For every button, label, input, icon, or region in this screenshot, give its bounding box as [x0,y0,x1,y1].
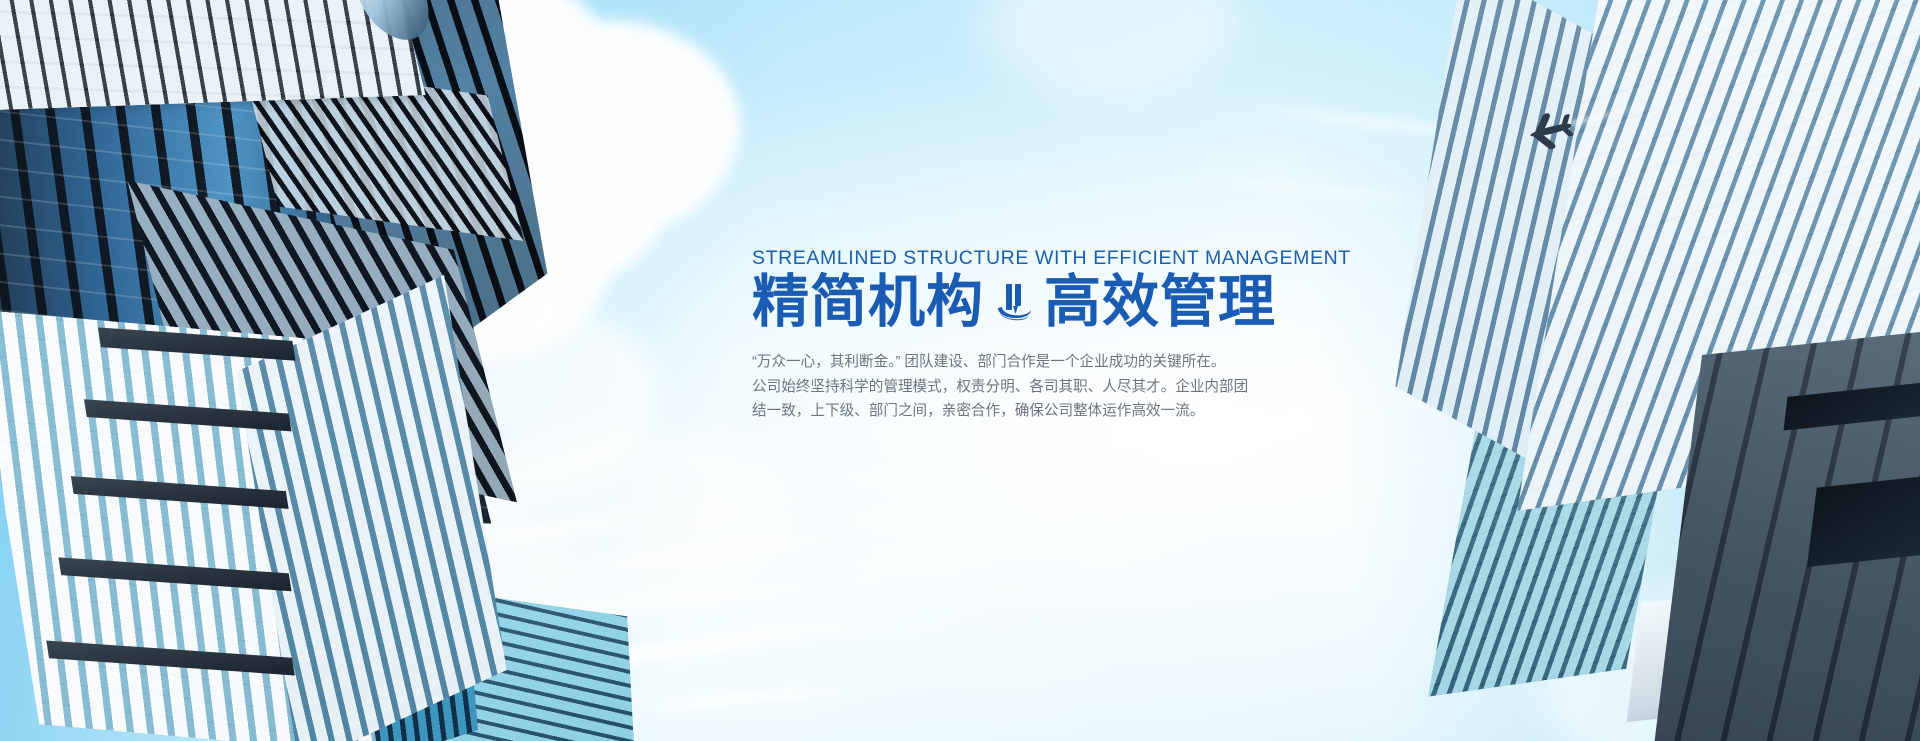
white-stepped-building [0,276,510,741]
banner-body-line: 结一致，上下级、部门之间，亲密合作，确保公司整体运作高效一流。 [752,399,1292,424]
company-logo-mark-icon [994,280,1034,328]
left-skyscraper-roof [0,0,426,112]
banner-headline-row: 精简机构 高效管理 [752,272,1312,332]
banner-eyebrow-english: STREAMLINED STRUCTURE WITH EFFICIENT MAN… [752,247,1312,270]
banner-headline-right: 高效管理 [1044,272,1276,332]
banner-body-copy: “万众一心，其利断金。” 团队建设、部门合作是一个企业成功的关键所在。 公司始终… [752,350,1292,424]
banner-body-line: 公司始终坚持科学的管理模式，权责分明、各司其职、人尽其才。企业内部团 [752,375,1292,400]
right-dark-building [1536,306,1920,741]
banner-headline-left: 精简机构 [752,272,984,332]
banner-text-block: STREAMLINED STRUCTURE WITH EFFICIENT MAN… [752,247,1312,424]
banner-body-line: “万众一心，其利断金。” 团队建设、部门合作是一个企业成功的关键所在。 [752,350,1292,375]
hero-banner: STREAMLINED STRUCTURE WITH EFFICIENT MAN… [0,0,1920,741]
right-dark-building-window [1807,472,1920,567]
